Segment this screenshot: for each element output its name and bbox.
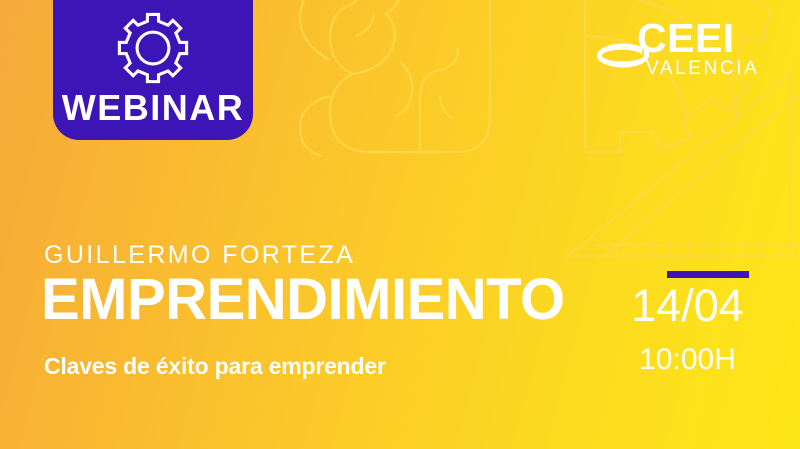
- page-title: EMPRENDIMIENTO: [41, 271, 565, 329]
- webinar-badge: WEBINAR: [53, 0, 253, 140]
- webinar-badge-label: WEBINAR: [62, 90, 244, 126]
- date-underline-rule: [667, 271, 749, 278]
- speaker-name: GUILLERMO FORTEZA: [44, 243, 355, 268]
- ruler-triangle-icon: [568, 74, 800, 258]
- ceei-brand-text: CEEI: [637, 18, 735, 59]
- event-time: 10:00H: [625, 345, 750, 375]
- event-subtitle: Claves de éxito para emprender: [44, 355, 386, 378]
- gear-icon: [116, 10, 190, 84]
- brain-outline-icon: [300, 0, 490, 156]
- event-date: 14/04: [625, 283, 750, 328]
- webinar-banner: WEBINAR CEEI VALENCIA GUILLERMO FORTEZA …: [0, 0, 800, 449]
- ceei-location-text: VALENCIA: [646, 59, 759, 78]
- ceei-logo: CEEI VALENCIA: [592, 18, 762, 82]
